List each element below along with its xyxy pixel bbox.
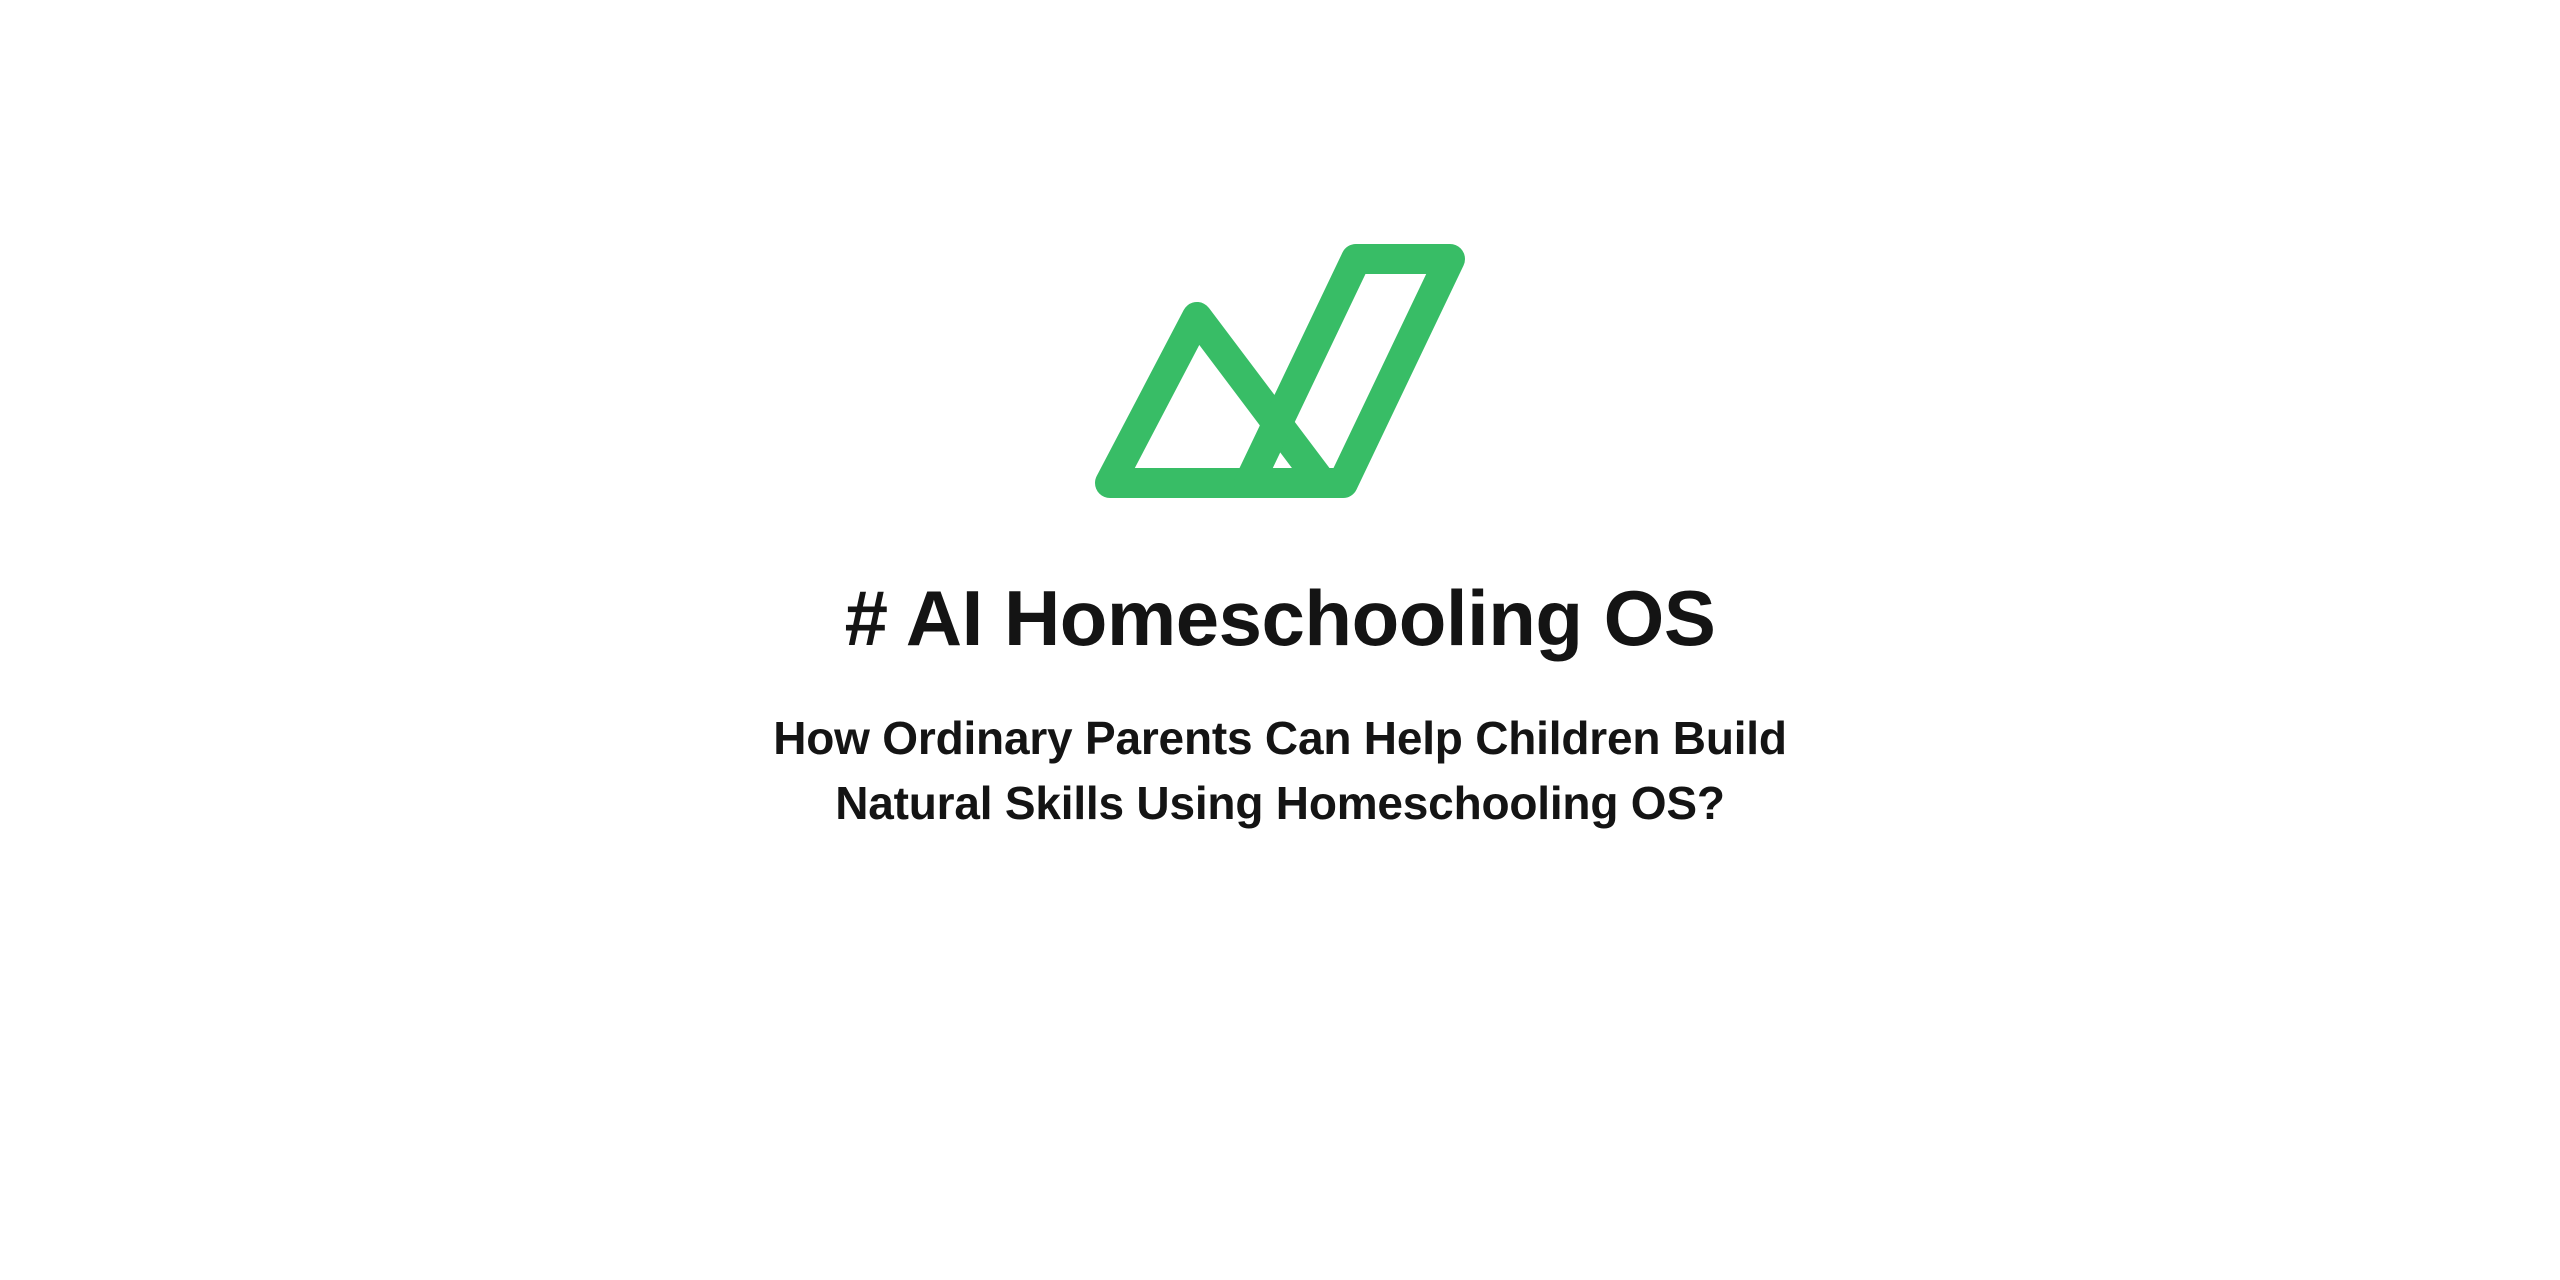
page-subtitle-line-2: Natural Skills Using Homeschooling OS? (773, 771, 1787, 836)
brand-logo-icon (1094, 238, 1466, 504)
brand-logo-mark (1094, 238, 1466, 504)
page-subtitle: How Ordinary Parents Can Help Children B… (773, 706, 1787, 837)
slide-canvas: # AI Homeschooling OS How Ordinary Paren… (0, 0, 2560, 1280)
hero-content: # AI Homeschooling OS How Ordinary Paren… (0, 0, 2560, 1280)
page-title: # AI Homeschooling OS (845, 576, 1716, 662)
page-subtitle-line-1: How Ordinary Parents Can Help Children B… (773, 706, 1787, 771)
